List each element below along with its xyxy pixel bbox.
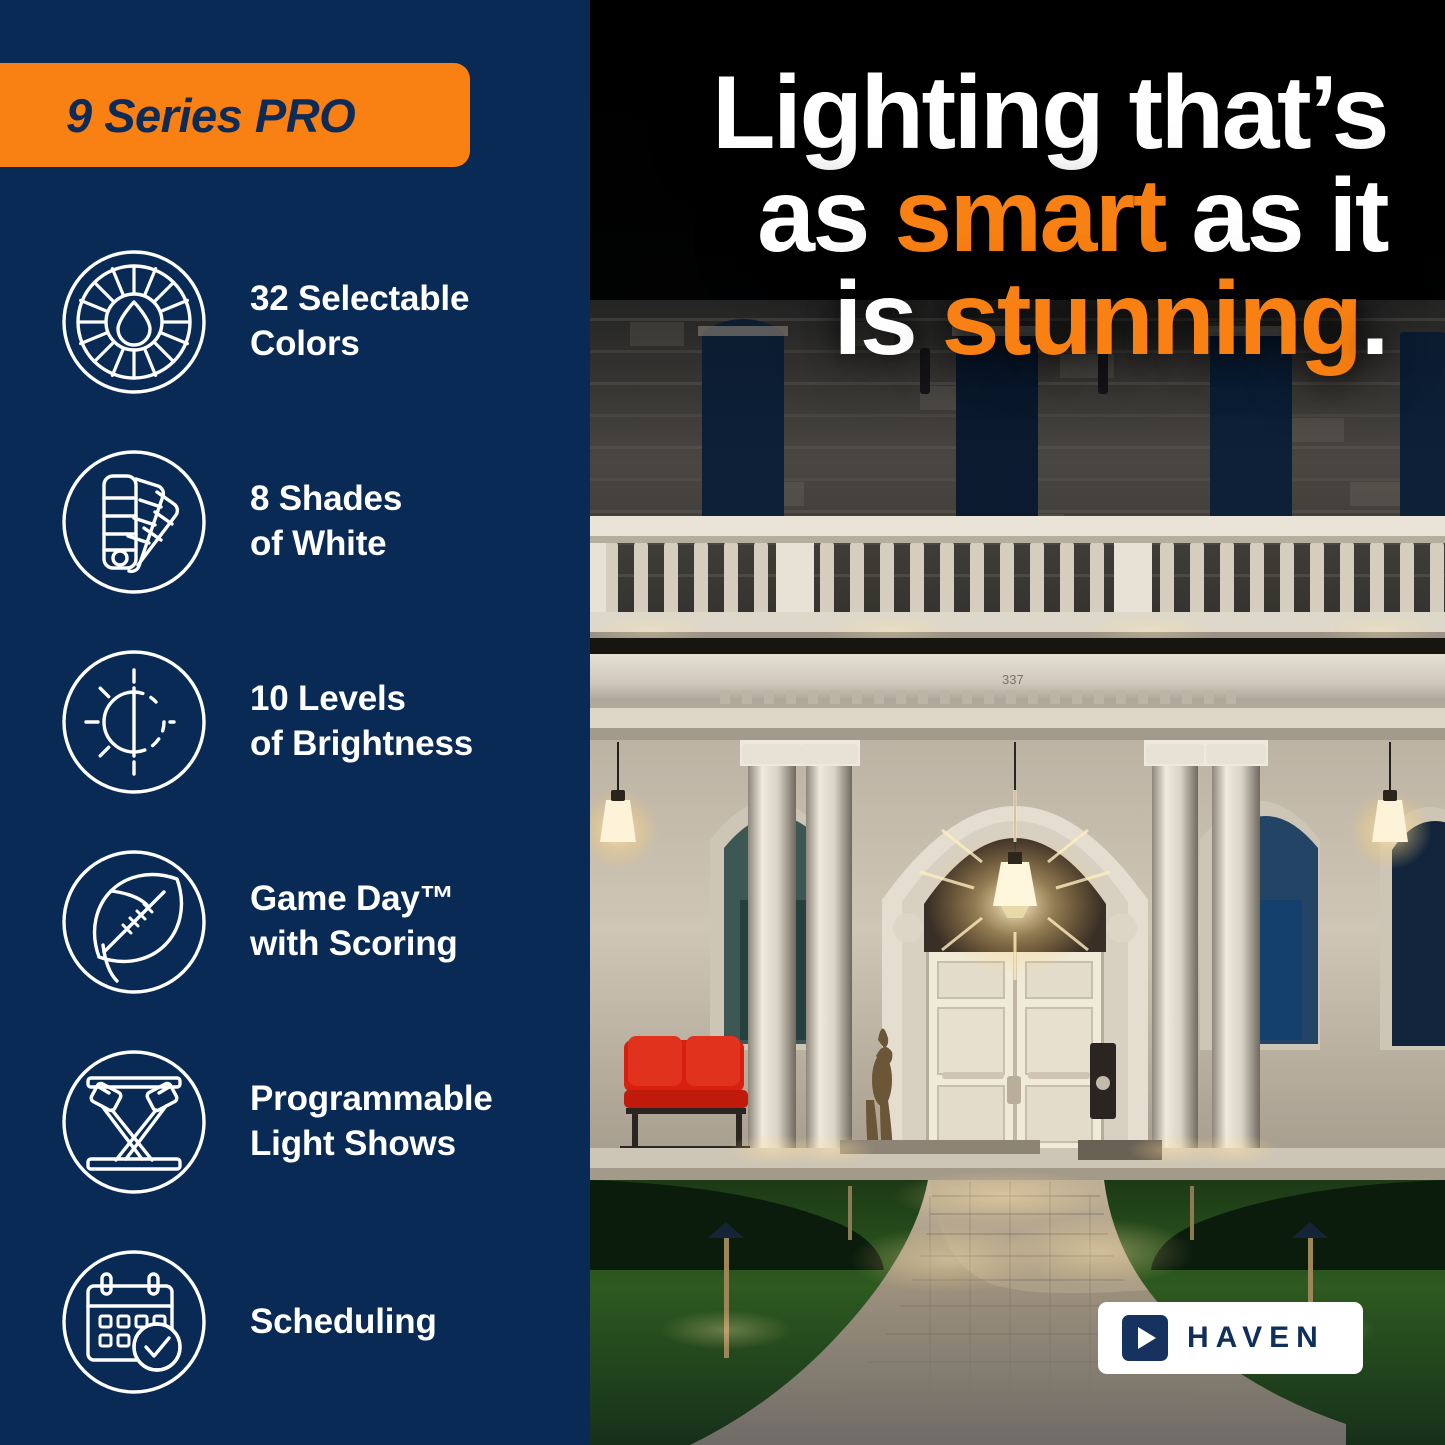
brightness-icon [60, 648, 208, 796]
headline-accent-stunning: stunning [942, 261, 1361, 377]
headline-line-3: is stunning. [667, 268, 1387, 371]
feature-item: 8 Shades of White [0, 422, 590, 622]
feature-item: 10 Levels of Brightness [0, 622, 590, 822]
feature-list: 32 Selectable Colors [0, 222, 590, 1422]
haven-logo: HAVEN [1098, 1302, 1363, 1374]
series-badge: 9 Series PRO [0, 63, 470, 167]
feature-label: 10 Levels of Brightness [250, 677, 473, 767]
football-icon [60, 848, 208, 996]
feature-label: 8 Shades of White [250, 477, 402, 567]
haven-logo-text: HAVEN [1187, 1321, 1325, 1355]
marketing-poster: 337 [0, 0, 1445, 1445]
headline-line-1: Lighting that’s [667, 62, 1387, 165]
headline-accent-smart: smart [894, 158, 1165, 274]
feature-label: Game Day™ with Scoring [250, 877, 458, 967]
play-triangle-icon [1122, 1315, 1168, 1361]
swatch-fan-icon [60, 448, 208, 596]
feature-item: Scheduling [0, 1222, 590, 1422]
calendar-check-icon [60, 1248, 208, 1396]
headline-line-2: as smart as it [667, 165, 1387, 268]
feature-item: Programmable Light Shows [0, 1022, 590, 1222]
feature-item: 32 Selectable Colors [0, 222, 590, 422]
svg-text:337: 337 [1002, 672, 1024, 687]
feature-label: Scheduling [250, 1300, 437, 1345]
color-wheel-icon [60, 248, 208, 396]
feature-label: 32 Selectable Colors [250, 277, 469, 367]
spotlights-icon [60, 1048, 208, 1196]
series-badge-label: 9 Series PRO [66, 88, 355, 143]
headline: Lighting that’s as smart as it is stunni… [667, 62, 1387, 371]
feature-label: Programmable Light Shows [250, 1077, 493, 1167]
features-sidebar: 9 Series PRO [0, 0, 590, 1445]
feature-item: Game Day™ with Scoring [0, 822, 590, 1022]
